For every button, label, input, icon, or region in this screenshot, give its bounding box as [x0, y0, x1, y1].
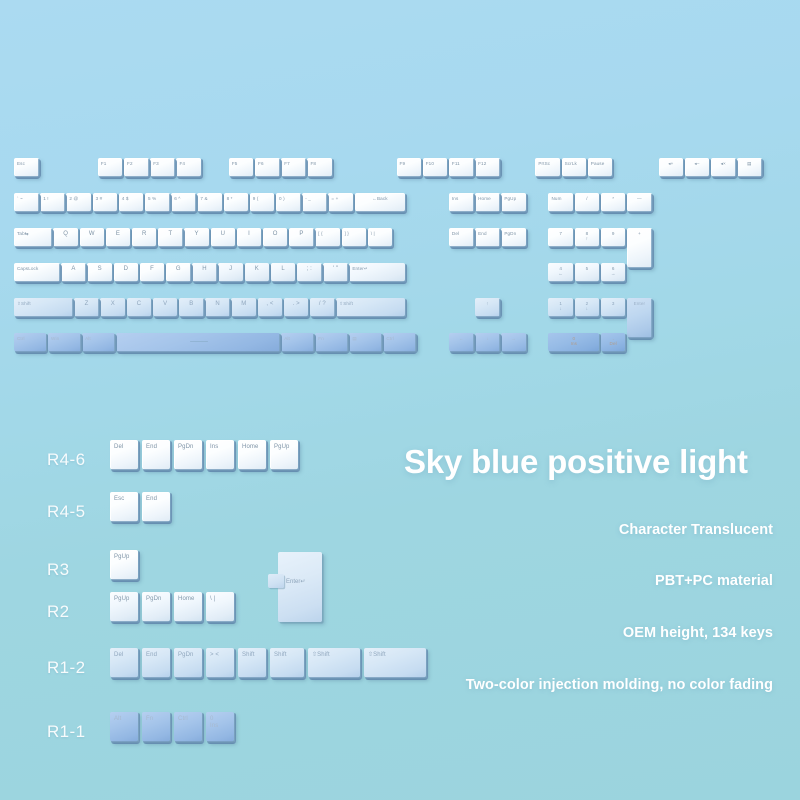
keycap-surface — [110, 440, 138, 470]
keycap-surface — [218, 263, 243, 282]
key--: ] } — [342, 228, 367, 247]
space-bar-marking — [190, 341, 208, 342]
key-⇧shift: ⇧Shift — [14, 298, 73, 317]
keycap-surface — [302, 193, 327, 212]
keycap-surface — [281, 158, 306, 177]
key-z: Z — [74, 298, 99, 317]
key-end: End — [475, 228, 500, 247]
key-p: P — [289, 228, 314, 247]
key-w: W — [80, 228, 105, 247]
keycap-surface — [575, 298, 600, 317]
keycap-surface — [368, 228, 393, 247]
keycap-surface — [711, 158, 736, 177]
keycap-surface — [142, 648, 170, 678]
keycap-surface — [174, 712, 202, 742]
key-numpad-0: 0 Ins — [548, 333, 599, 352]
key-num-2: 2 @ — [66, 193, 91, 212]
key-v: V — [153, 298, 178, 317]
key-n: N — [205, 298, 230, 317]
key-e: E — [106, 228, 131, 247]
key-blank: * — [601, 193, 626, 212]
keycap-surface — [250, 193, 275, 212]
keycap-surface — [53, 228, 78, 247]
profile-label-r1-2: R1-2 — [47, 658, 85, 678]
key-num-1: 1 ! — [40, 193, 65, 212]
key-num-10: 0 ) — [276, 193, 301, 212]
key--: ' " — [323, 263, 348, 282]
keycap-surface — [93, 193, 118, 212]
keycap-surface — [627, 298, 652, 338]
keycap-surface — [270, 440, 298, 470]
key-c: C — [127, 298, 152, 317]
key-a: A — [61, 263, 86, 282]
keycap-surface — [328, 193, 353, 212]
key-numpad-dot: . Del — [601, 333, 626, 352]
keycap-surface — [14, 158, 39, 177]
keycap-surface — [284, 298, 309, 317]
key-arrow-up: ↑ — [475, 298, 500, 317]
key-q: Q — [53, 228, 78, 247]
key-r: R — [132, 228, 157, 247]
key-alt: Alt — [82, 333, 114, 352]
key-f11: F11 — [449, 158, 474, 177]
keycap-surface — [349, 333, 381, 352]
key--: . > — [284, 298, 309, 317]
keycap-surface — [98, 158, 123, 177]
keycap-surface — [40, 193, 65, 212]
key-num-0: ` ~ — [14, 193, 39, 212]
keycap-surface — [271, 263, 296, 282]
keycap-surface — [142, 592, 170, 622]
keycap-surface — [449, 193, 474, 212]
keycap-surface — [110, 592, 138, 622]
keycap-surface — [575, 193, 600, 212]
key-blank: ↓ — [475, 333, 500, 352]
key-o: O — [263, 228, 288, 247]
key-backspace: ←Back — [355, 193, 406, 212]
keycap-surface — [211, 228, 236, 247]
profile-key-r1-2-shift: Shift — [238, 648, 266, 678]
keyboard-render: EscF1F2F3F4F5F6F7F8F9F10F11F12PrtScScrLk… — [0, 140, 800, 395]
keycap-surface — [575, 263, 600, 282]
keycap-surface — [205, 298, 230, 317]
keycap-surface — [737, 158, 762, 177]
key--: \ | — [368, 228, 393, 247]
keycap-surface — [601, 228, 626, 247]
key-pause: Pause — [588, 158, 613, 177]
key-f7: F7 — [281, 158, 306, 177]
key-blank: ← — [449, 333, 474, 352]
feature-3: OEM height, 134 keys — [623, 625, 773, 641]
key-num-9: 9 ( — [250, 193, 275, 212]
keycap-surface — [237, 228, 262, 247]
profile-key-r1-1-0-ins: 0 Ins — [206, 712, 234, 742]
feature-2: PBT+PC material — [655, 573, 773, 589]
keycap-surface — [206, 440, 234, 470]
keycap-surface — [548, 298, 573, 317]
key-t: T — [158, 228, 183, 247]
keycap-surface — [501, 333, 526, 352]
key-num-5: 5 % — [145, 193, 170, 212]
key-g: G — [166, 263, 191, 282]
key-f4: F4 — [176, 158, 201, 177]
keycap-surface — [449, 158, 474, 177]
vol-down-icon: ◂− — [685, 158, 710, 177]
profile-key-r4-6-ins: Ins — [206, 440, 234, 470]
keycap-surface — [601, 263, 626, 282]
calculator-icon: ▤ — [737, 158, 762, 177]
keycap-surface — [263, 228, 288, 247]
key-d: D — [114, 263, 139, 282]
key-f6: F6 — [255, 158, 280, 177]
key-del: Del — [449, 228, 474, 247]
key-f3: F3 — [150, 158, 175, 177]
profile-key-r4-6-pgup: PgUp — [270, 440, 298, 470]
keycap-surface — [114, 263, 139, 282]
profile-key-r1-1-alt: Alt — [110, 712, 138, 742]
keycap-surface — [176, 158, 201, 177]
keycap-surface — [475, 333, 500, 352]
keycap-surface — [423, 158, 448, 177]
key-pgup: PgUp — [501, 193, 526, 212]
keycap-surface — [171, 193, 196, 212]
keycap-surface — [475, 298, 500, 317]
key-k: K — [245, 263, 270, 282]
keycap-surface — [192, 263, 217, 282]
key--: , < — [258, 298, 283, 317]
keycap-surface — [206, 648, 234, 678]
key-j: J — [218, 263, 243, 282]
key-ctrl: Ctrl — [383, 333, 415, 352]
keycap-surface — [14, 263, 60, 282]
profile-key-r2-home: Home — [174, 592, 202, 622]
profile-key-r1-2-pgdn: PgDn — [174, 648, 202, 678]
profile-label-r1-1: R1-1 — [47, 722, 85, 742]
key-8: 8 ↑ — [575, 228, 600, 247]
iso-enter-legend: Enter↵ — [286, 578, 305, 585]
key-num-6: 6 ^ — [171, 193, 196, 212]
key-⇧shift: ⇧Shift — [336, 298, 405, 317]
keycap-surface — [342, 228, 367, 247]
keycap-surface — [184, 228, 209, 247]
key-2: 2 ↓ — [575, 298, 600, 317]
profile-key-r4-6-pgdn: PgDn — [174, 440, 202, 470]
keycap-surface — [100, 298, 125, 317]
profile-key-r1-2-shift: Shift — [270, 648, 304, 678]
keycap-surface — [383, 333, 415, 352]
key-num-12: = + — [328, 193, 353, 212]
keycap-surface — [276, 193, 301, 212]
key-pgdn: PgDn — [501, 228, 526, 247]
profile-key-r2-iso-enter: Enter↵ — [278, 552, 322, 622]
key-blank: → — [501, 333, 526, 352]
key-ctrl: Ctrl — [14, 333, 46, 352]
keycap-surface — [229, 158, 254, 177]
profile-key-r1-2--: > < — [206, 648, 234, 678]
keycap-surface — [245, 263, 270, 282]
key-f12: F12 — [475, 158, 500, 177]
key-f2: F2 — [124, 158, 149, 177]
keycap-surface — [323, 263, 348, 282]
keycap-surface — [289, 228, 314, 247]
keycap-surface — [145, 193, 170, 212]
key-blank: / — [575, 193, 600, 212]
key-enter-: Enter↵ — [349, 263, 405, 282]
key-space — [116, 333, 279, 352]
keycap-surface — [14, 298, 73, 317]
keycap-surface — [308, 648, 360, 678]
keycap-surface — [627, 228, 652, 268]
keycap-surface — [142, 712, 170, 742]
keycap-surface — [349, 263, 405, 282]
keycap-surface — [601, 193, 626, 212]
profile-label-r4-6: R4-6 — [47, 450, 85, 470]
keycap-surface — [80, 228, 105, 247]
keycap-surface — [307, 158, 332, 177]
key-b: B — [179, 298, 204, 317]
keycap-surface — [142, 492, 170, 522]
key-num-7: 7 & — [197, 193, 222, 212]
key-f: F — [140, 263, 165, 282]
keycap-surface — [48, 333, 80, 352]
key-f9: F9 — [397, 158, 422, 177]
key-h: H — [192, 263, 217, 282]
keycap-surface — [106, 228, 131, 247]
key-7: 7 — [548, 228, 573, 247]
key-alt: Alt — [281, 333, 313, 352]
key-num-11: - _ — [302, 193, 327, 212]
profile-key-r2-pgup: PgUp — [110, 592, 138, 622]
keycap-surface — [548, 333, 599, 352]
profile-key-r1-1-ctrl: Ctrl — [174, 712, 202, 742]
key-1: 1 ↓ — [548, 298, 573, 317]
keycap-surface — [685, 158, 710, 177]
key-9: 9 — [601, 228, 626, 247]
keycap-surface — [87, 263, 112, 282]
keycap-surface — [174, 648, 202, 678]
profile-key-r4-5-esc: Esc — [110, 492, 138, 522]
iso-enter-body — [278, 552, 322, 622]
key-5: 5 — [575, 263, 600, 282]
keycap-surface — [14, 333, 46, 352]
keycap-surface — [575, 228, 600, 247]
keycap-surface — [601, 298, 626, 317]
keycap-surface — [174, 440, 202, 470]
vol-up-icon: ◂+ — [659, 158, 684, 177]
key-num-8: 8 * — [224, 193, 249, 212]
keycap-surface — [588, 158, 613, 177]
key-i: I — [237, 228, 262, 247]
keycap-surface — [14, 228, 52, 247]
keycap-surface — [238, 648, 266, 678]
keycap-surface — [449, 333, 474, 352]
profile-key-r4-5-end: End — [142, 492, 170, 522]
key-x: X — [100, 298, 125, 317]
keycap-surface — [475, 228, 500, 247]
key-f1: F1 — [98, 158, 123, 177]
keycap-surface — [548, 193, 573, 212]
page-title: Sky blue positive light — [404, 443, 748, 481]
keycap-surface — [449, 228, 474, 247]
key-num-4: 4 $ — [119, 193, 144, 212]
key-s: S — [87, 263, 112, 282]
key-m: M — [231, 298, 256, 317]
keycap-surface — [548, 263, 573, 282]
key-f8: F8 — [307, 158, 332, 177]
keycap-surface — [355, 193, 406, 212]
key-capslock: CapsLock — [14, 263, 60, 282]
profile-key-r4-6-home: Home — [238, 440, 266, 470]
key-f10: F10 — [423, 158, 448, 177]
key-home: Home — [475, 193, 500, 212]
profile-key-r1-2--shift: ⇧Shift — [308, 648, 360, 678]
keycap-surface — [255, 158, 280, 177]
keycap-surface — [110, 492, 138, 522]
key-numpad-plus: + — [627, 228, 652, 268]
keycap-surface — [501, 228, 526, 247]
profile-label-r2: R2 — [47, 602, 70, 622]
profile-key-r4-6-del: Del — [110, 440, 138, 470]
keycap-surface — [110, 550, 138, 580]
keycap-surface — [627, 193, 652, 212]
key-3: 3 — [601, 298, 626, 317]
profile-key-r1-2-end: End — [142, 648, 170, 678]
profile-key-r2-pgdn: PgDn — [142, 592, 170, 622]
key-esc: Esc — [14, 158, 39, 177]
key-y: Y — [184, 228, 209, 247]
keycap-surface — [475, 193, 500, 212]
keycap-surface — [140, 263, 165, 282]
profile-key-r1-1-fn: Fn — [142, 712, 170, 742]
key-num: Num — [548, 193, 573, 212]
keycap-surface — [150, 158, 175, 177]
profile-key-r3-pgup: PgUp — [110, 550, 138, 580]
key-prtsc: PrtSc — [535, 158, 560, 177]
keycap-surface — [336, 298, 405, 317]
feature-4: Two-color injection molding, no color fa… — [466, 677, 773, 693]
keycap-surface — [548, 228, 573, 247]
key-l: L — [271, 263, 296, 282]
profile-key-r1-2--shift: ⇧Shift — [364, 648, 426, 678]
key-4: 4 ← — [548, 263, 573, 282]
keycap-surface — [132, 228, 157, 247]
keycap-surface — [231, 298, 256, 317]
keycap-surface — [153, 298, 178, 317]
profile-key-r4-6-end: End — [142, 440, 170, 470]
keycap-surface — [258, 298, 283, 317]
feature-1: Character Translucent — [619, 522, 773, 538]
key--: [ { — [315, 228, 340, 247]
keycap-surface — [315, 228, 340, 247]
key-f5: F5 — [229, 158, 254, 177]
keycap-surface — [281, 333, 313, 352]
keycap-surface — [124, 158, 149, 177]
keycap-surface — [310, 298, 335, 317]
keycap-surface — [179, 298, 204, 317]
profile-label-r4-5: R4-5 — [47, 502, 85, 522]
keycap-surface — [158, 228, 183, 247]
keycap-surface — [562, 158, 587, 177]
keycap-surface — [397, 158, 422, 177]
keycap-surface — [535, 158, 560, 177]
keycap-surface — [127, 298, 152, 317]
iso-enter-notch — [268, 574, 284, 588]
profile-key-r2--: \ | — [206, 592, 234, 622]
keycap-surface — [224, 193, 249, 212]
keycap-surface — [142, 440, 170, 470]
keycap-surface — [206, 712, 234, 742]
keycap-surface — [501, 193, 526, 212]
key-6: 6 → — [601, 263, 626, 282]
keycap-surface — [61, 263, 86, 282]
key-scrlk: ScrLk — [562, 158, 587, 177]
keycap-surface — [116, 333, 279, 352]
keycap-surface — [14, 193, 39, 212]
keycap-surface — [82, 333, 114, 352]
keycap-surface — [74, 298, 99, 317]
keycap-surface — [174, 592, 202, 622]
profile-key-r1-2-del: Del — [110, 648, 138, 678]
keycap-surface — [238, 440, 266, 470]
key-fn: Fn — [315, 333, 347, 352]
keycap-surface — [315, 333, 347, 352]
keycap-surface — [601, 333, 626, 352]
mute-icon: ◂× — [711, 158, 736, 177]
key--: ; : — [297, 263, 322, 282]
key-menu-icon: ▤ — [349, 333, 381, 352]
key-numpad-enter: Enter — [627, 298, 652, 338]
key--: / ? — [310, 298, 335, 317]
keycap-surface — [364, 648, 426, 678]
key-u: U — [211, 228, 236, 247]
keycap-surface — [66, 193, 91, 212]
keycap-surface — [166, 263, 191, 282]
key-tab: Tab⇆ — [14, 228, 52, 247]
key-ins: Ins — [449, 193, 474, 212]
keycap-surface — [297, 263, 322, 282]
keycap-surface — [475, 158, 500, 177]
key-blank: — — [627, 193, 652, 212]
key-num-3: 3 # — [93, 193, 118, 212]
keycap-surface — [206, 592, 234, 622]
profile-label-r3: R3 — [47, 560, 70, 580]
keycap-surface — [110, 648, 138, 678]
keycap-surface — [197, 193, 222, 212]
keycap-surface — [270, 648, 304, 678]
keycap-surface — [110, 712, 138, 742]
key-win: Win — [48, 333, 80, 352]
keycap-surface — [119, 193, 144, 212]
keycap-surface — [659, 158, 684, 177]
